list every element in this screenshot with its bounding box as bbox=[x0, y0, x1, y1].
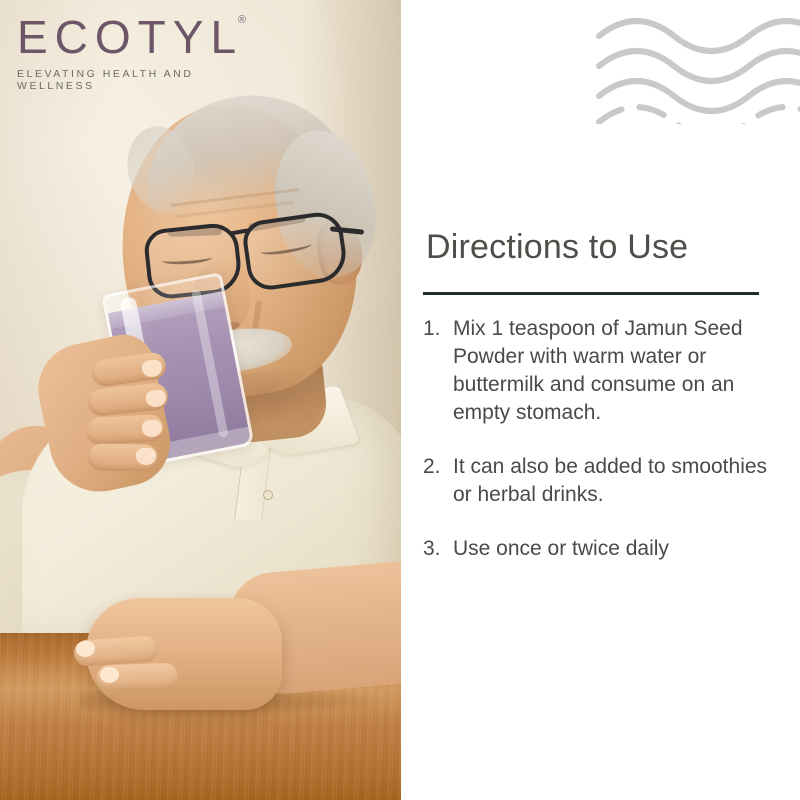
page-title: Directions to Use bbox=[426, 228, 688, 267]
directions-list: 1. Mix 1 teaspoon of Jamun Seed Powder w… bbox=[423, 315, 775, 562]
registered-trademark-icon: ® bbox=[238, 14, 246, 26]
list-item-text: It can also be added to smoothies or her… bbox=[453, 453, 775, 509]
infographic-canvas: ECOTYL ® ELEVATING HEALTH AND WELLNESS D… bbox=[0, 0, 800, 800]
brand-name: ECOTYL bbox=[17, 14, 267, 60]
list-item-text: Mix 1 teaspoon of Jamun Seed Powder with… bbox=[453, 315, 775, 427]
list-item-number: 2. bbox=[423, 453, 453, 481]
list-item: 1. Mix 1 teaspoon of Jamun Seed Powder w… bbox=[423, 315, 775, 427]
brand-logo: ECOTYL ® ELEVATING HEALTH AND WELLNESS bbox=[17, 14, 267, 92]
title-divider bbox=[423, 292, 759, 295]
list-item-text: Use once or twice daily bbox=[453, 535, 775, 563]
product-photo-panel bbox=[0, 0, 401, 800]
brand-tagline: ELEVATING HEALTH AND WELLNESS bbox=[17, 68, 267, 92]
list-item-number: 3. bbox=[423, 535, 453, 563]
list-item: 3. Use once or twice daily bbox=[423, 535, 775, 563]
eyeglass-lens-right bbox=[241, 209, 350, 292]
fingernail-pinky bbox=[136, 448, 156, 465]
directions-pane: Directions to Use 1. Mix 1 teaspoon of J… bbox=[401, 0, 800, 800]
list-item: 2. It can also be added to smoothies or … bbox=[423, 453, 775, 509]
wavy-lines-icon bbox=[595, 14, 800, 124]
list-item-number: 1. bbox=[423, 315, 453, 343]
